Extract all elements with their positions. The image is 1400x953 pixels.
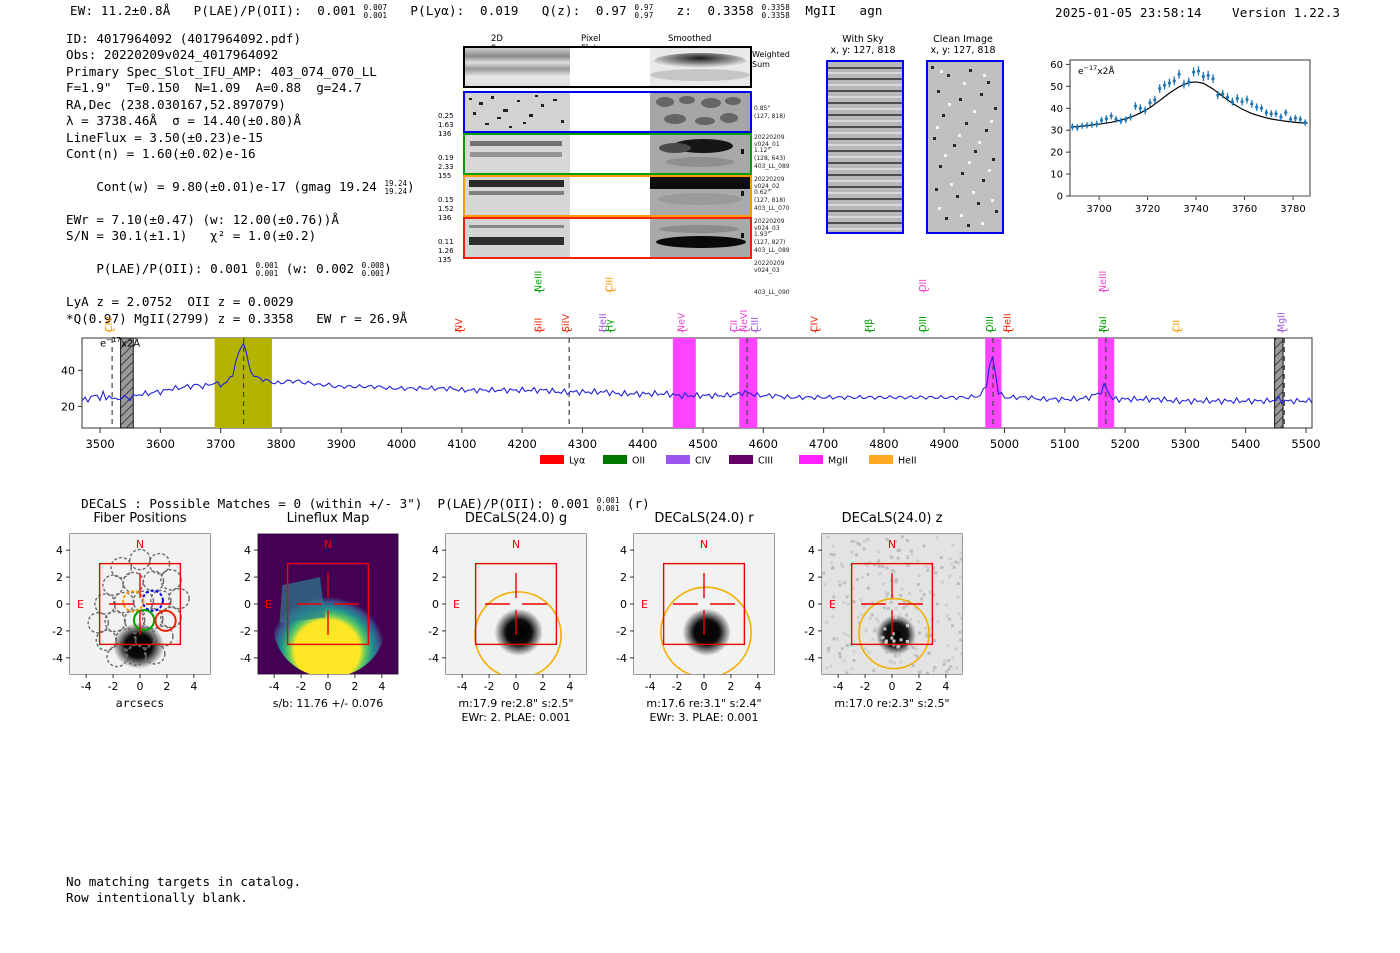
- svg-text:CIV: CIV: [695, 456, 711, 467]
- weighted-sum-label: Weighted Sum: [752, 50, 790, 70]
- svg-text:0: 0: [325, 680, 332, 693]
- svg-text:E: E: [829, 598, 836, 611]
- svg-text:0: 0: [808, 598, 815, 611]
- svg-text:-4: -4: [645, 680, 656, 693]
- header-plya-value: 0.019: [480, 3, 519, 18]
- svg-text:4: 4: [432, 544, 439, 557]
- svg-text:4000: 4000: [387, 437, 416, 451]
- svg-text:E: E: [265, 598, 272, 611]
- svg-text:0: 0: [701, 680, 708, 693]
- cutout-subtitle: x, y: 127, 818: [823, 45, 903, 56]
- svg-text:0: 0: [432, 598, 439, 611]
- svg-text:-2: -2: [296, 680, 307, 693]
- exposure-row-left-values: 0.111.26135: [438, 220, 454, 283]
- svg-text:2: 2: [808, 571, 815, 584]
- svg-text:4: 4: [942, 680, 949, 693]
- svg-text:{: {: [532, 287, 545, 294]
- svg-text:3720: 3720: [1135, 204, 1160, 215]
- svg-text:2: 2: [432, 571, 439, 584]
- header-version: Version 1.22.3: [1232, 5, 1340, 20]
- svg-text:EWr: 2. PLAE: 0.001: EWr: 2. PLAE: 0.001: [461, 711, 570, 724]
- svg-text:40: 40: [61, 364, 75, 377]
- svg-text:OII: OII: [632, 456, 645, 467]
- header-plae-poii-bounds: 0.0070.001: [364, 4, 388, 20]
- svg-text:4600: 4600: [749, 437, 778, 451]
- svg-text:-2: -2: [616, 625, 627, 638]
- svg-text:-4: -4: [833, 680, 844, 693]
- cutout-image: [926, 60, 1004, 234]
- svg-text:0: 0: [56, 598, 63, 611]
- svg-text:4: 4: [620, 544, 627, 557]
- svg-text:5100: 5100: [1050, 437, 1079, 451]
- cutout-clean-image: Clean Image x, y: 127, 818: [920, 34, 1006, 56]
- footer-line-2: Row intentionally blank.: [66, 890, 301, 906]
- info-sn-chi2: S/N = 30.1(±1.1) χ² = 1.0(±0.2): [66, 228, 415, 244]
- svg-text:Lineflux Map: Lineflux Map: [287, 511, 370, 526]
- header-class: agn: [859, 3, 882, 18]
- svg-text:N: N: [512, 538, 520, 551]
- header-z-bounds: 0.33580.3358: [762, 4, 790, 20]
- svg-text:{: {: [1002, 327, 1015, 334]
- svg-text:Lyα: Lyα: [569, 456, 585, 467]
- svg-text:40: 40: [1050, 104, 1063, 115]
- footer-line-1: No matching targets in catalog.: [66, 874, 301, 890]
- svg-text:4200: 4200: [508, 437, 537, 451]
- header-plae-poii-label: P(LAE)/P(OII):: [194, 3, 302, 18]
- svg-text:-4: -4: [804, 652, 815, 665]
- cutout-subtitle: x, y: 127, 818: [920, 45, 1006, 56]
- svg-text:5300: 5300: [1171, 437, 1200, 451]
- header-species: MgII: [805, 3, 836, 18]
- svg-text:-4: -4: [240, 652, 251, 665]
- svg-text:-2: -2: [804, 625, 815, 638]
- svg-text:4400: 4400: [628, 437, 657, 451]
- svg-text:0: 0: [620, 598, 627, 611]
- svg-text:4300: 4300: [568, 437, 597, 451]
- svg-text:-2: -2: [672, 680, 683, 693]
- exposure-row-image: [463, 91, 752, 133]
- svg-text:5000: 5000: [990, 437, 1019, 451]
- svg-text:-2: -2: [484, 680, 495, 693]
- svg-text:DECaLS(24.0) z: DECaLS(24.0) z: [842, 511, 943, 526]
- svg-text:-4: -4: [269, 680, 280, 693]
- svg-text:HeII: HeII: [898, 456, 917, 467]
- svg-text:{: {: [103, 327, 116, 334]
- svg-text:0: 0: [513, 680, 520, 693]
- header-plae-poii-value: 0.001: [317, 3, 356, 18]
- svg-text:-4: -4: [81, 680, 92, 693]
- svg-text:0: 0: [889, 680, 896, 693]
- svg-text:N: N: [136, 538, 144, 551]
- svg-text:-4: -4: [428, 652, 439, 665]
- svg-text:30: 30: [1050, 126, 1063, 137]
- weighted-sum-strip: [463, 46, 752, 88]
- svg-text:{: {: [675, 327, 688, 334]
- svg-text:{: {: [453, 327, 466, 334]
- svg-text:E: E: [641, 598, 648, 611]
- info-cont-w: Cont(w) = 9.80(±0.01)e-17 (gmag 19.24 19…: [66, 163, 415, 212]
- svg-text:-2: -2: [860, 680, 871, 693]
- header-qz-value: 0.97: [596, 3, 627, 18]
- exposure-row-image: [463, 175, 752, 217]
- svg-text:-2: -2: [108, 680, 119, 693]
- cutout-with-sky: With Sky x, y: 127, 818: [823, 34, 903, 56]
- svg-text:N: N: [700, 538, 708, 551]
- line-profile-flux-annotation: e−17x2Å: [1078, 64, 1114, 77]
- svg-text:4: 4: [244, 544, 251, 557]
- svg-text:m:17.6 re:3.1" s:2.4": m:17.6 re:3.1" s:2.4": [646, 697, 761, 710]
- header-qz-label: Q(z):: [542, 3, 581, 18]
- svg-text:0: 0: [137, 680, 144, 693]
- info-obs: Obs: 20220209v024_4017964092: [66, 47, 415, 63]
- header-ew: EW: 11.2±0.8Å: [70, 3, 170, 18]
- svg-text:2: 2: [163, 680, 170, 693]
- svg-text:-4: -4: [52, 652, 63, 665]
- svg-text:2: 2: [727, 680, 734, 693]
- svg-text:50: 50: [1050, 82, 1063, 93]
- info-radec: RA,Dec (238.030167,52.897079): [66, 97, 415, 113]
- svg-text:4: 4: [754, 680, 761, 693]
- svg-text:{: {: [1097, 327, 1110, 334]
- svg-text:2: 2: [351, 680, 358, 693]
- svg-text:CIII: CIII: [758, 456, 773, 467]
- cutout-title: With Sky: [823, 34, 903, 45]
- svg-text:EWr: 3. PLAE: 0.001: EWr: 3. PLAE: 0.001: [649, 711, 758, 724]
- svg-text:3700: 3700: [1086, 204, 1111, 215]
- svg-text:{: {: [984, 327, 997, 334]
- svg-text:4900: 4900: [930, 437, 959, 451]
- svg-text:2: 2: [620, 571, 627, 584]
- svg-text:{: {: [1275, 327, 1288, 334]
- svg-text:m:17.9 re:2.8" s:2.5": m:17.9 re:2.8" s:2.5": [458, 697, 573, 710]
- info-primary-spec: Primary Spec_Slot_IFU_AMP: 403_074_070_L…: [66, 64, 415, 80]
- info-ewr: EWr = 7.10(±0.47) (w: 12.00(±0.76))Å: [66, 212, 415, 228]
- svg-text:3800: 3800: [266, 437, 295, 451]
- spec-col-title-smoothed: Smoothed: [668, 34, 711, 44]
- svg-text:5400: 5400: [1231, 437, 1260, 451]
- svg-text:20: 20: [1050, 148, 1063, 159]
- svg-text:{: {: [1170, 327, 1183, 334]
- svg-text:arcsecs: arcsecs: [116, 696, 164, 710]
- svg-text:3740: 3740: [1183, 204, 1208, 215]
- svg-text:{: {: [749, 327, 762, 334]
- header-z-label: z:: [677, 3, 692, 18]
- svg-text:-2: -2: [52, 625, 63, 638]
- svg-text:4800: 4800: [869, 437, 898, 451]
- svg-text:3900: 3900: [327, 437, 356, 451]
- spectrum-legend: LyαOIICIVCIIIMgIIHeII: [540, 452, 880, 468]
- line-profile-chart: 010203040506037003720374037603780 e−17x2…: [1032, 48, 1317, 220]
- info-seeing: F=1.9" T=0.150 N=1.09 A=0.88 g=24.7: [66, 80, 415, 96]
- svg-text:3760: 3760: [1232, 204, 1257, 215]
- svg-text:MgII: MgII: [828, 456, 848, 467]
- full-spectrum-chart: 2040350036003700380039004000410042004300…: [40, 276, 1360, 451]
- svg-text:3780: 3780: [1280, 204, 1305, 215]
- svg-text:4: 4: [808, 544, 815, 557]
- svg-text:-4: -4: [616, 652, 627, 665]
- header-qz-bounds: 0.970.97: [635, 4, 654, 20]
- svg-text:{: {: [917, 287, 930, 294]
- svg-text:s/b: 11.76 +/- 0.076: s/b: 11.76 +/- 0.076: [273, 697, 384, 710]
- decals-panel-row: Fiber PositionsNE-4-4-2-2002244arcsecsLi…: [40, 508, 1000, 728]
- svg-text:N: N: [888, 538, 896, 551]
- svg-text:4: 4: [56, 544, 63, 557]
- svg-text:0: 0: [1057, 192, 1063, 203]
- info-id: ID: 4017964092 (4017964092.pdf): [66, 31, 415, 47]
- header-z-value: 0.3358: [708, 3, 754, 18]
- svg-text:E: E: [77, 598, 84, 611]
- svg-text:{: {: [863, 327, 876, 334]
- svg-text:m:17.0 re:2.3" s:2.5": m:17.0 re:2.3" s:2.5": [834, 697, 949, 710]
- info-cont-n: Cont(n) = 1.60(±0.02)e-16: [66, 146, 415, 162]
- svg-text:3500: 3500: [85, 437, 114, 451]
- svg-text:60: 60: [1050, 60, 1063, 71]
- svg-text:4: 4: [378, 680, 385, 693]
- svg-text:5200: 5200: [1110, 437, 1139, 451]
- svg-text:{: {: [917, 327, 930, 334]
- svg-text:E: E: [453, 598, 460, 611]
- svg-text:4: 4: [190, 680, 197, 693]
- svg-text:5500: 5500: [1291, 437, 1320, 451]
- spectrum-flux-annotation: e−17x2Å: [100, 336, 140, 349]
- svg-text:{: {: [532, 327, 545, 334]
- svg-text:N: N: [324, 538, 332, 551]
- cutout-image: [826, 60, 904, 234]
- svg-text:-2: -2: [428, 625, 439, 638]
- svg-text:2: 2: [244, 571, 251, 584]
- svg-text:{: {: [604, 287, 617, 294]
- header-timestamp: 2025-01-05 23:58:14: [1055, 5, 1202, 20]
- svg-text:4700: 4700: [809, 437, 838, 451]
- svg-text:{: {: [809, 327, 822, 334]
- header-summary-row: EW: 11.2±0.8Å P(LAE)/P(OII): 0.001 0.007…: [70, 3, 883, 19]
- exposure-row-image: [463, 217, 752, 259]
- svg-text:4: 4: [566, 680, 573, 693]
- svg-text:20: 20: [61, 400, 75, 413]
- svg-text:0: 0: [244, 598, 251, 611]
- svg-text:10: 10: [1050, 170, 1063, 181]
- svg-text:3600: 3600: [146, 437, 175, 451]
- svg-text:{: {: [560, 327, 573, 334]
- svg-text:-4: -4: [457, 680, 468, 693]
- svg-text:{: {: [1097, 287, 1110, 294]
- svg-text:Fiber Positions: Fiber Positions: [93, 511, 186, 526]
- svg-text:-2: -2: [240, 625, 251, 638]
- svg-text:3700: 3700: [206, 437, 235, 451]
- svg-text:4500: 4500: [688, 437, 717, 451]
- svg-text:4100: 4100: [447, 437, 476, 451]
- footer-note: No matching targets in catalog. Row inte…: [66, 874, 301, 907]
- svg-text:DECaLS(24.0) r: DECaLS(24.0) r: [654, 511, 754, 526]
- exposure-row-image: [463, 133, 752, 175]
- svg-text:2: 2: [56, 571, 63, 584]
- info-lineflux: LineFlux = 3.50(±0.23)e-15: [66, 130, 415, 146]
- info-lambda: λ = 3738.46Å σ = 14.40(±0.80)Å: [66, 113, 415, 129]
- svg-text:2: 2: [539, 680, 546, 693]
- svg-text:2: 2: [915, 680, 922, 693]
- svg-text:{: {: [604, 327, 617, 334]
- header-plya-label: P(Lyα):: [410, 3, 464, 18]
- svg-text:DECaLS(24.0) g: DECaLS(24.0) g: [465, 511, 567, 526]
- cutout-title: Clean Image: [920, 34, 1006, 45]
